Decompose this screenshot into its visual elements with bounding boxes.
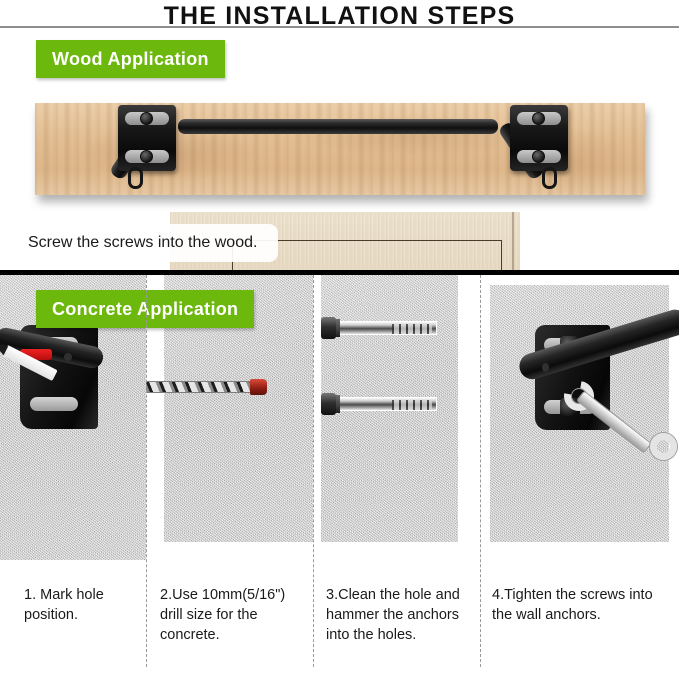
drill-carbide-tip <box>250 379 267 395</box>
mounting-bracket-left <box>118 105 176 171</box>
wood-step-caption-text: Screw the screws into the wood. <box>28 234 257 252</box>
bracket-pilot-hole <box>542 363 549 372</box>
wood-application-badge: Wood Application <box>36 40 225 78</box>
bracket-pilot-hole <box>64 353 72 361</box>
anchor-sleeve <box>339 397 437 411</box>
anchor-hex-head <box>321 317 336 339</box>
d-ring-loop-left <box>128 167 143 189</box>
drill-flutes <box>146 382 252 392</box>
screw-icon <box>532 150 545 163</box>
mounting-bracket-right <box>510 105 568 171</box>
step-4-image <box>480 275 679 560</box>
step-4-caption: 4.Tighten the screws into the wall ancho… <box>492 585 672 625</box>
installation-steps-page: THE INSTALLATION STEPS Wood Application <box>0 0 679 673</box>
wrench-icon <box>564 371 679 461</box>
door-edge-line <box>512 212 514 272</box>
step-3-caption: 3.Clean the hole and hammer the anchors … <box>326 585 476 645</box>
anchor-hex-head <box>321 393 336 415</box>
sleeve-anchor-icon <box>321 393 437 415</box>
sleeve-anchor-icon <box>321 317 437 339</box>
anchor-sleeve <box>339 321 437 335</box>
wrench-box-end <box>650 433 677 460</box>
screw-icon <box>140 112 153 125</box>
wood-application-badge-label: Wood Application <box>52 49 209 70</box>
bracket-slot-bottom <box>30 397 78 411</box>
screw-icon <box>140 150 153 163</box>
step-1-caption: 1. Mark hole position. <box>24 585 142 625</box>
step-2-caption: 2.Use 10mm(5/16") drill size for the con… <box>160 585 305 645</box>
step-3-image <box>313 275 480 560</box>
title-divider <box>0 26 679 28</box>
panel-divider <box>480 275 481 667</box>
screw-icon <box>532 112 545 125</box>
masonry-drill-bit-icon <box>146 378 270 395</box>
panel-divider <box>313 275 314 667</box>
wrench-handle <box>576 390 652 453</box>
panel-divider <box>146 275 147 667</box>
page-title: THE INSTALLATION STEPS <box>0 0 679 34</box>
grab-bar-tube <box>178 119 498 134</box>
wood-step-caption: Screw the screws into the wood. <box>28 224 278 262</box>
section-divider <box>0 270 679 275</box>
d-ring-loop-right <box>542 167 557 189</box>
